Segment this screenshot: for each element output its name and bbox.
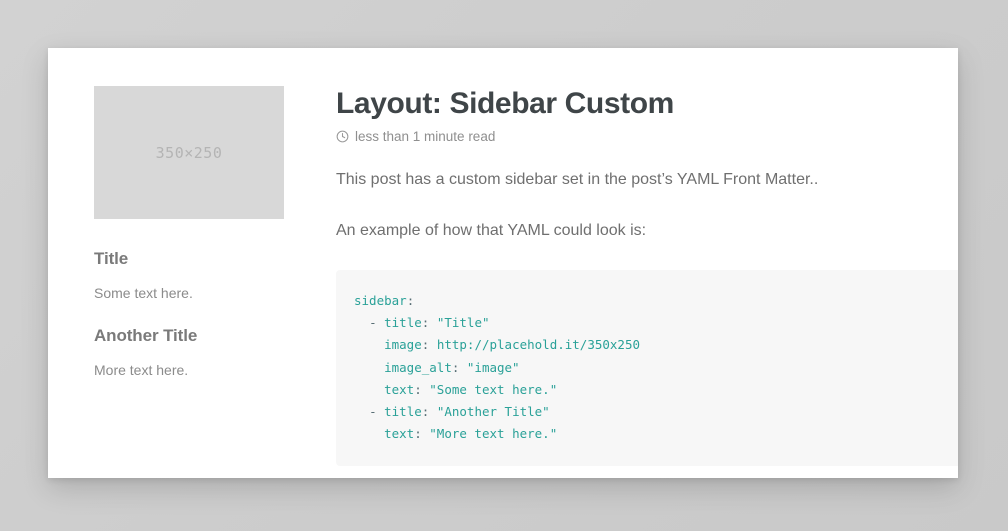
page-title: Layout: Sidebar Custom (336, 86, 958, 121)
code-content: sidebar: - title: "Title" image: http://… (354, 290, 958, 446)
sidebar-block-title: Title Some text here. (94, 249, 284, 304)
sidebar-image-placeholder-label: 350×250 (156, 144, 223, 162)
post-main: Layout: Sidebar Custom less than 1 minut… (310, 86, 958, 466)
post-paragraph-intro: This post has a custom sidebar set in th… (336, 168, 958, 193)
post-layout: 350×250 Title Some text here. Another Ti… (48, 48, 958, 466)
sidebar-block-text: More text here. (94, 360, 284, 381)
code-block: sidebar: - title: "Title" image: http://… (336, 270, 958, 466)
sidebar-block-another-title: Another Title More text here. (94, 326, 284, 381)
post-paragraph-example: An example of how that YAML could look i… (336, 219, 958, 244)
sidebar-block-heading: Title (94, 249, 284, 269)
clock-icon (336, 130, 349, 143)
sidebar-block-heading: Another Title (94, 326, 284, 346)
read-time-label: less than 1 minute read (355, 129, 495, 144)
sidebar-image-placeholder: 350×250 (94, 86, 284, 219)
post-sidebar: 350×250 Title Some text here. Another Ti… (94, 86, 310, 403)
post-card: 350×250 Title Some text here. Another Ti… (48, 48, 958, 478)
sidebar-block-text: Some text here. (94, 283, 284, 304)
post-meta: less than 1 minute read (336, 129, 958, 144)
